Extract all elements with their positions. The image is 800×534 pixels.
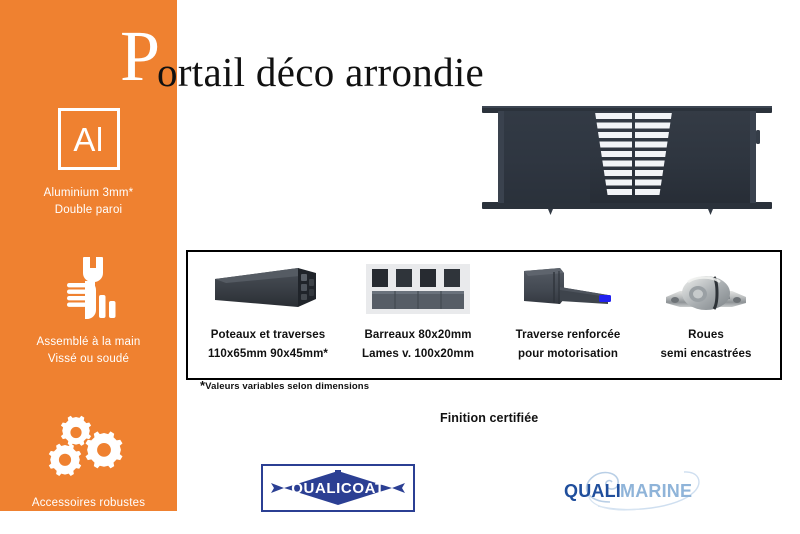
- qualicoat-logo-text: QUALICOAT: [291, 480, 384, 497]
- footnote: *Valeurs variables selon dimensions: [200, 381, 369, 392]
- product-roues: Roues semi encastrées: [628, 252, 784, 378]
- sidebar-feature-aluminium-line1: Aluminium 3mm*: [0, 185, 177, 202]
- product-barreaux-lames: Barreaux 80x20mm Lames v. 100x20mm: [338, 252, 498, 378]
- barreaux-lames-icon: [338, 258, 498, 320]
- product-barreaux-line1: Barreaux 80x20mm: [338, 326, 498, 345]
- sidebar-feature-aluminium-line2: Double paroi: [0, 202, 177, 219]
- wheel-bearing-icon: [628, 258, 784, 320]
- title-rest: ortail déco arrondie: [157, 38, 484, 106]
- page-title: Portail déco arrondie: [120, 22, 487, 90]
- gate-product-photo: [480, 100, 780, 222]
- title-dropcap: P: [120, 22, 160, 90]
- product-traverse-renforcee: Traverse renforcée pour motorisation: [488, 252, 648, 378]
- product-roues-line2: semi encastrées: [628, 345, 784, 364]
- certification-heading: Finition certifiée: [440, 411, 538, 425]
- sidebar-feature-aluminium: Al Aluminium 3mm* Double paroi: [0, 108, 177, 219]
- product-poteaux-line2: 110x65mm 90x45mm*: [188, 345, 348, 364]
- gears-icon: [0, 415, 177, 477]
- sidebar-feature-assembly: Assemblé à la main Vissé ou soudé: [0, 255, 177, 368]
- product-barreaux-line2: Lames v. 100x20mm: [338, 345, 498, 364]
- qualimarine-logo-text-quali: QUALI: [564, 481, 621, 501]
- qualicoat-logo: QUALICOAT: [261, 464, 415, 512]
- product-spec-panel: Poteaux et traverses 110x65mm 90x45mm*: [186, 250, 782, 380]
- reinforced-beam-icon: [488, 258, 648, 320]
- poster-page: Al Aluminium 3mm* Double paroi: [0, 0, 800, 534]
- aluminium-profile-icon: [188, 258, 348, 320]
- qualimarine-logo: QUALI MARINE: [558, 462, 718, 516]
- qualimarine-logo-text-marine: MARINE: [620, 481, 692, 501]
- product-poteaux-line1: Poteaux et traverses: [188, 326, 348, 345]
- product-roues-line1: Roues: [628, 326, 784, 345]
- al-icon-label: Al: [73, 123, 103, 156]
- aluminium-al-icon: Al: [0, 108, 177, 170]
- sidebar-feature-assembly-line2: Vissé ou soudé: [0, 351, 177, 368]
- sidebar-feature-accessories-line1: Accessoires robustes: [0, 495, 177, 512]
- sidebar-feature-assembly-line1: Assemblé à la main: [0, 334, 177, 351]
- sidebar-feature-accessories: Accessoires robustes: [0, 415, 177, 512]
- product-poteaux-traverses: Poteaux et traverses 110x65mm 90x45mm*: [188, 252, 348, 378]
- product-traverse-line1: Traverse renforcée: [488, 326, 648, 345]
- hand-wrench-icon: [0, 255, 177, 321]
- footnote-text: Valeurs variables selon dimensions: [205, 381, 369, 392]
- product-traverse-line2: pour motorisation: [488, 345, 648, 364]
